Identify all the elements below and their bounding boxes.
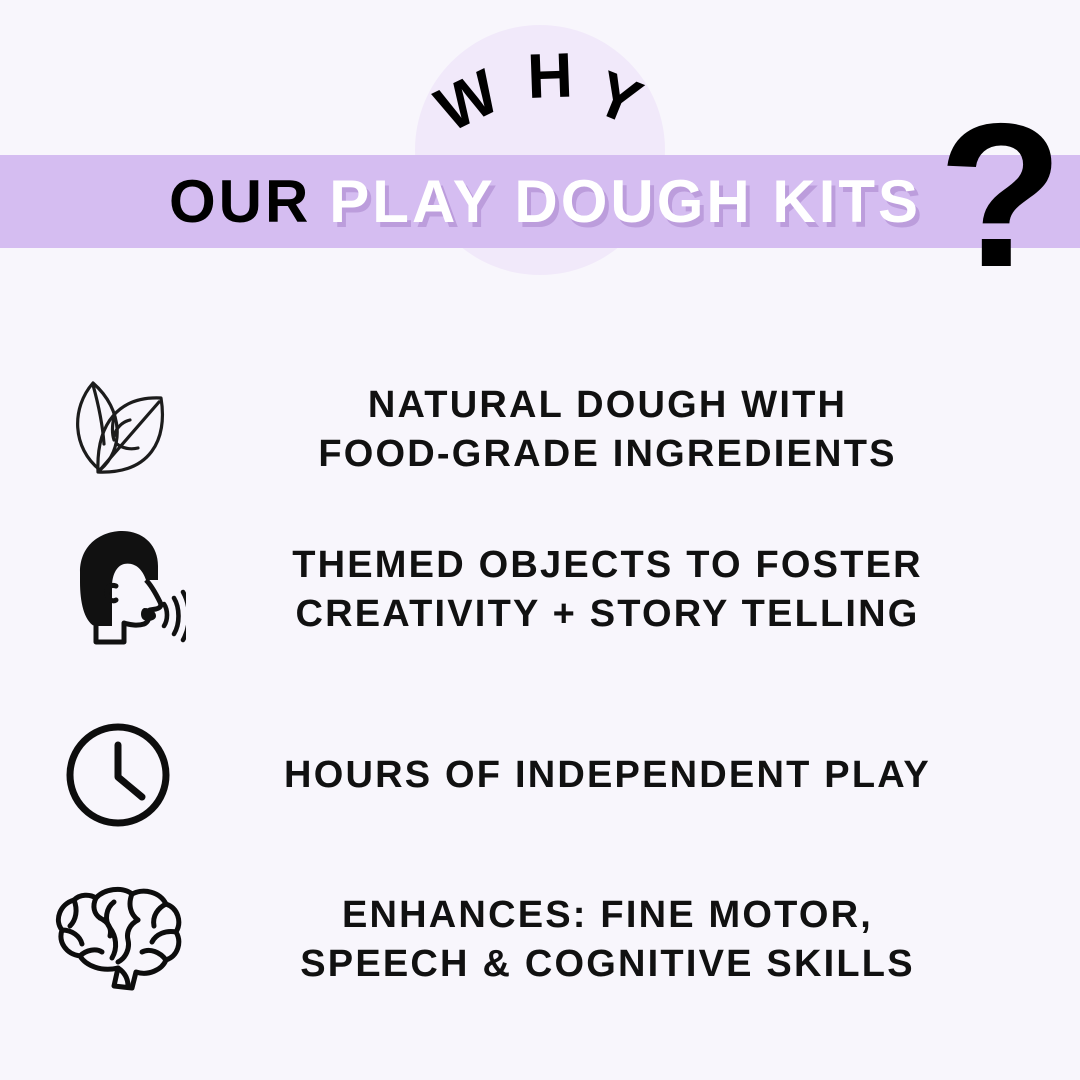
feature-text: THEMED OBJECTS TO FOSTER CREATIVITY + ST… [235, 541, 1080, 638]
clock-icon [0, 700, 235, 850]
feature-text: NATURAL DOUGH WITH FOOD-GRADE INGREDIENT… [235, 381, 1080, 478]
feature-text: HOURS OF INDEPENDENT PLAY [235, 751, 1080, 800]
why-letter-y: Y [586, 58, 660, 142]
feature-line: SPEECH & COGNITIVE SKILLS [235, 940, 980, 989]
feature-row: THEMED OBJECTS TO FOSTER CREATIVITY + ST… [0, 515, 1080, 665]
feature-line: THEMED OBJECTS TO FOSTER [235, 541, 980, 590]
feature-row: HOURS OF INDEPENDENT PLAY [0, 700, 1080, 850]
headline-word-product: PLAY DOUGH KITS [329, 172, 921, 232]
feature-line: FOOD-GRADE INGREDIENTS [235, 430, 980, 479]
why-arched-text: W H Y [395, 18, 685, 158]
question-mark-glyph: ? [938, 96, 1058, 296]
feature-row: NATURAL DOUGH WITH FOOD-GRADE INGREDIENT… [0, 355, 1080, 505]
headline-word-our: OUR [169, 172, 311, 232]
why-letter-w: W [425, 53, 517, 146]
promo-poster: W H Y OUR PLAY DOUGH KITS ? [0, 0, 1080, 1080]
feature-line: NATURAL DOUGH WITH [235, 381, 980, 430]
headline-text: OUR PLAY DOUGH KITS [0, 155, 1080, 248]
brain-icon [0, 865, 235, 1015]
leaves-icon [0, 355, 235, 505]
feature-list: NATURAL DOUGH WITH FOOD-GRADE INGREDIENT… [0, 300, 1080, 1080]
feature-line: CREATIVITY + STORY TELLING [235, 590, 980, 639]
feature-line: HOURS OF INDEPENDENT PLAY [235, 751, 980, 800]
speaking-head-icon [0, 515, 235, 665]
feature-line: ENHANCES: FINE MOTOR, [235, 891, 980, 940]
poster-header: W H Y OUR PLAY DOUGH KITS ? [0, 0, 1080, 300]
why-letter-h: H [526, 40, 583, 112]
feature-text: ENHANCES: FINE MOTOR, SPEECH & COGNITIVE… [235, 891, 1080, 988]
feature-row: ENHANCES: FINE MOTOR, SPEECH & COGNITIVE… [0, 865, 1080, 1015]
